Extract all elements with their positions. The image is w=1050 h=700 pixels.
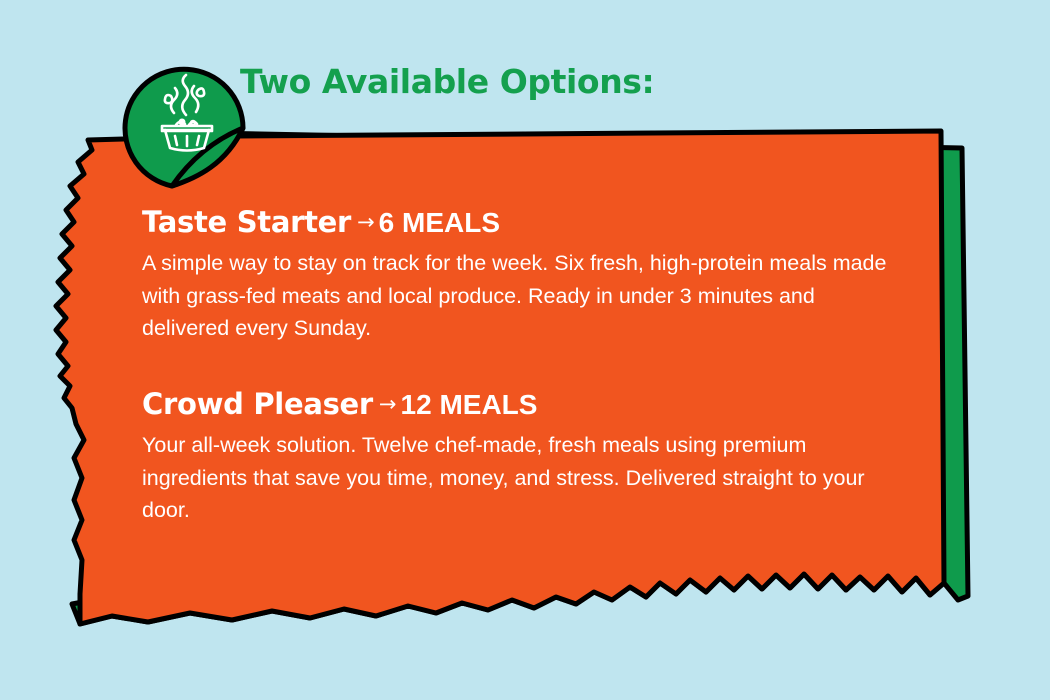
poster-canvas: Two Available Options: Taste Starter→6 M… [0, 0, 1050, 700]
options-list: Taste Starter→6 MEALS A simple way to st… [142, 208, 902, 527]
option-description: A simple way to stay on track for the we… [142, 247, 897, 345]
option-meal-count: 6 MEALS [379, 207, 500, 238]
option-heading: Crowd Pleaser→12 MEALS [142, 390, 902, 419]
option-name: Crowd Pleaser [142, 387, 373, 421]
arrow-right-icon: → [373, 392, 401, 416]
arrow-right-icon: → [351, 210, 379, 234]
option-name: Taste Starter [142, 205, 351, 239]
option-crowd-pleaser: Crowd Pleaser→12 MEALS Your all-week sol… [142, 390, 902, 527]
option-taste-starter: Taste Starter→6 MEALS A simple way to st… [142, 208, 902, 345]
page-title: Two Available Options: [240, 62, 654, 101]
option-heading: Taste Starter→6 MEALS [142, 208, 902, 237]
option-meal-count: 12 MEALS [401, 389, 538, 420]
option-description: Your all-week solution. Twelve chef-made… [142, 429, 897, 527]
